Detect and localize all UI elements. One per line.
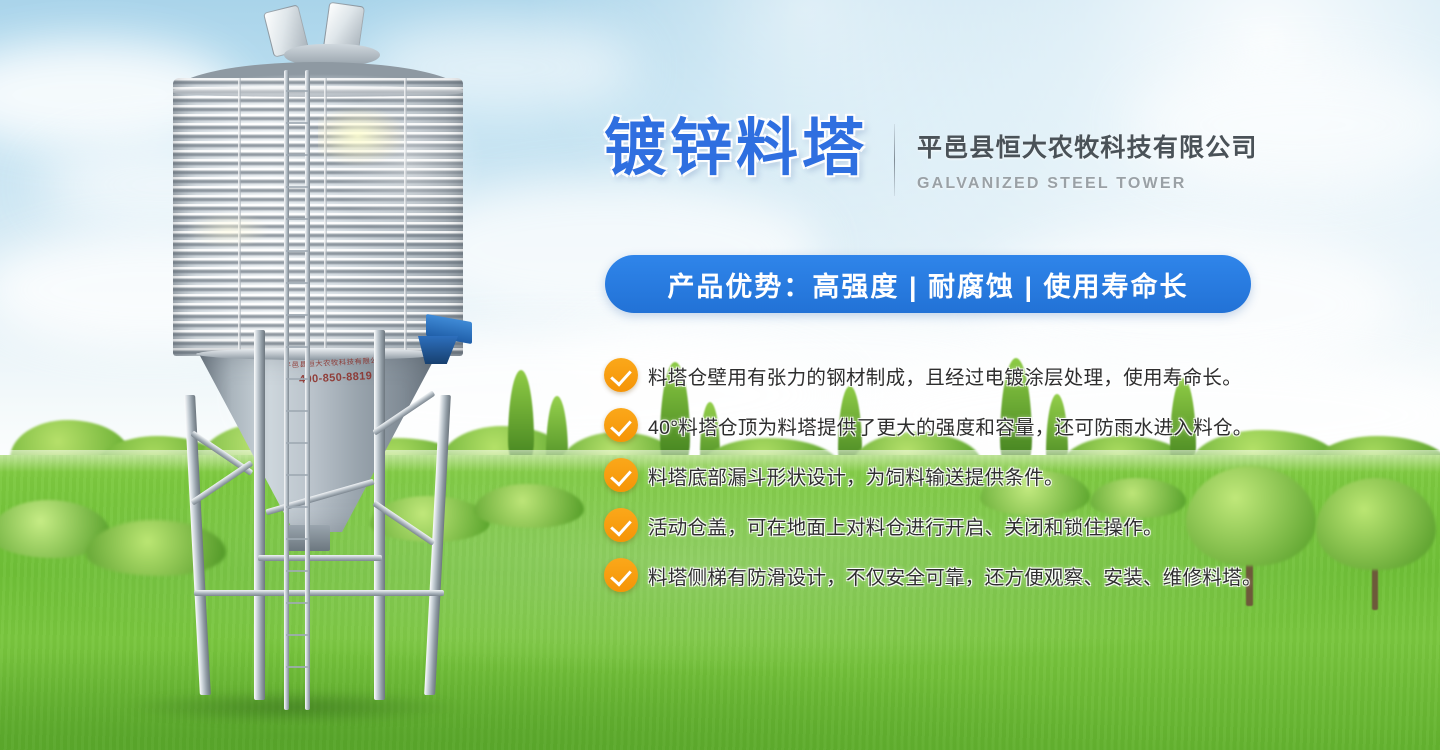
check-circle-icon — [604, 358, 638, 392]
advantage-banner: 产品优势：高强度 | 耐腐蚀 | 使用寿命长 — [605, 255, 1251, 313]
tree — [1316, 478, 1436, 610]
ladder-rung — [286, 378, 308, 380]
silo-leg — [424, 395, 451, 695]
silo-seam — [324, 78, 327, 356]
ladder-rung — [286, 250, 308, 252]
ladder-rung — [286, 186, 308, 188]
check-circle-icon — [604, 408, 638, 442]
ladder-rung — [286, 474, 308, 476]
ladder-rail — [305, 70, 310, 710]
hero-banner: 平邑县恒大农牧科技有限公司 400-850-8819 — [0, 0, 1440, 750]
silo-leg — [254, 330, 265, 700]
list-item: 料塔仓壁用有张力的钢材制成，且经过电镀涂层处理，使用寿命长。 — [604, 350, 1304, 400]
list-item: 料塔侧梯有防滑设计，不仅安全可靠，还方便观察、安装、维修料塔。 — [604, 550, 1304, 600]
silo-cross-beam — [194, 590, 444, 596]
advantage-banner-text: 产品优势：高强度 | 耐腐蚀 | 使用寿命长 — [667, 265, 1188, 304]
ladder-rung — [286, 154, 308, 156]
sun-glare — [180, 190, 300, 270]
feature-text: 40°料塔仓顶为料塔提供了更大的强度和容量，还可防雨水进入料仓。 — [648, 411, 1253, 440]
hero-content: 镀锌料塔 平邑县恒大农牧科技有限公司 GALVANIZED STEEL TOWE… — [604, 0, 1304, 750]
company-subtitle-en: GALVANIZED STEEL TOWER — [917, 175, 1258, 193]
ladder-rung — [286, 122, 308, 124]
silo-seam — [404, 78, 407, 356]
list-item: 料塔底部漏斗形状设计，为饲料输送提供条件。 — [604, 450, 1304, 500]
ladder-rail — [284, 70, 289, 710]
ladder-rung — [286, 282, 308, 284]
feature-text: 活动仓盖，可在地面上对料仓进行开启、关闭和锁住操作。 — [648, 511, 1163, 540]
feature-list: 料塔仓壁用有张力的钢材制成，且经过电镀涂层处理，使用寿命长。 40°料塔仓顶为料… — [604, 350, 1304, 600]
ladder-rung — [286, 506, 308, 508]
ladder-rung — [286, 666, 308, 668]
silo-top-rim — [173, 86, 463, 97]
title-divider — [894, 124, 895, 196]
feature-text: 料塔侧梯有防滑设计，不仅安全可靠，还方便观察、安装、维修料塔。 — [648, 561, 1262, 590]
silo-leg — [374, 330, 385, 700]
ladder-rung — [286, 602, 308, 604]
feature-text: 料塔仓壁用有张力的钢材制成，且经过电镀涂层处理，使用寿命长。 — [648, 361, 1242, 390]
check-circle-icon — [604, 558, 638, 592]
ladder-rung — [286, 314, 308, 316]
page-title: 镀锌料塔 — [604, 118, 868, 180]
ladder-rung — [286, 410, 308, 412]
feature-text: 料塔底部漏斗形状设计，为饲料输送提供条件。 — [648, 461, 1064, 490]
ladder-rung — [286, 634, 308, 636]
ladder-rung — [286, 346, 308, 348]
ladder-rung — [286, 218, 308, 220]
list-item: 活动仓盖，可在地面上对料仓进行开启、关闭和锁住操作。 — [604, 500, 1304, 550]
ladder-rung — [286, 570, 308, 572]
ladder-rung — [286, 442, 308, 444]
silo-side-ladder — [284, 70, 310, 710]
silo-product-image: 平邑县恒大农牧科技有限公司 400-850-8819 — [88, 0, 518, 750]
tree-crown — [1316, 478, 1436, 570]
headline-row: 镀锌料塔 平邑县恒大农牧科技有限公司 GALVANIZED STEEL TOWE… — [604, 118, 1304, 218]
list-item: 40°料塔仓顶为料塔提供了更大的强度和容量，还可防雨水进入料仓。 — [604, 400, 1304, 450]
check-circle-icon — [604, 508, 638, 542]
ladder-rung — [286, 538, 308, 540]
ladder-rung — [286, 90, 308, 92]
company-block: 平邑县恒大农牧科技有限公司 GALVANIZED STEEL TOWER — [917, 118, 1258, 193]
company-name: 平邑县恒大农牧科技有限公司 — [917, 128, 1258, 164]
check-circle-icon — [604, 458, 638, 492]
silo-cross-beam — [258, 555, 382, 561]
